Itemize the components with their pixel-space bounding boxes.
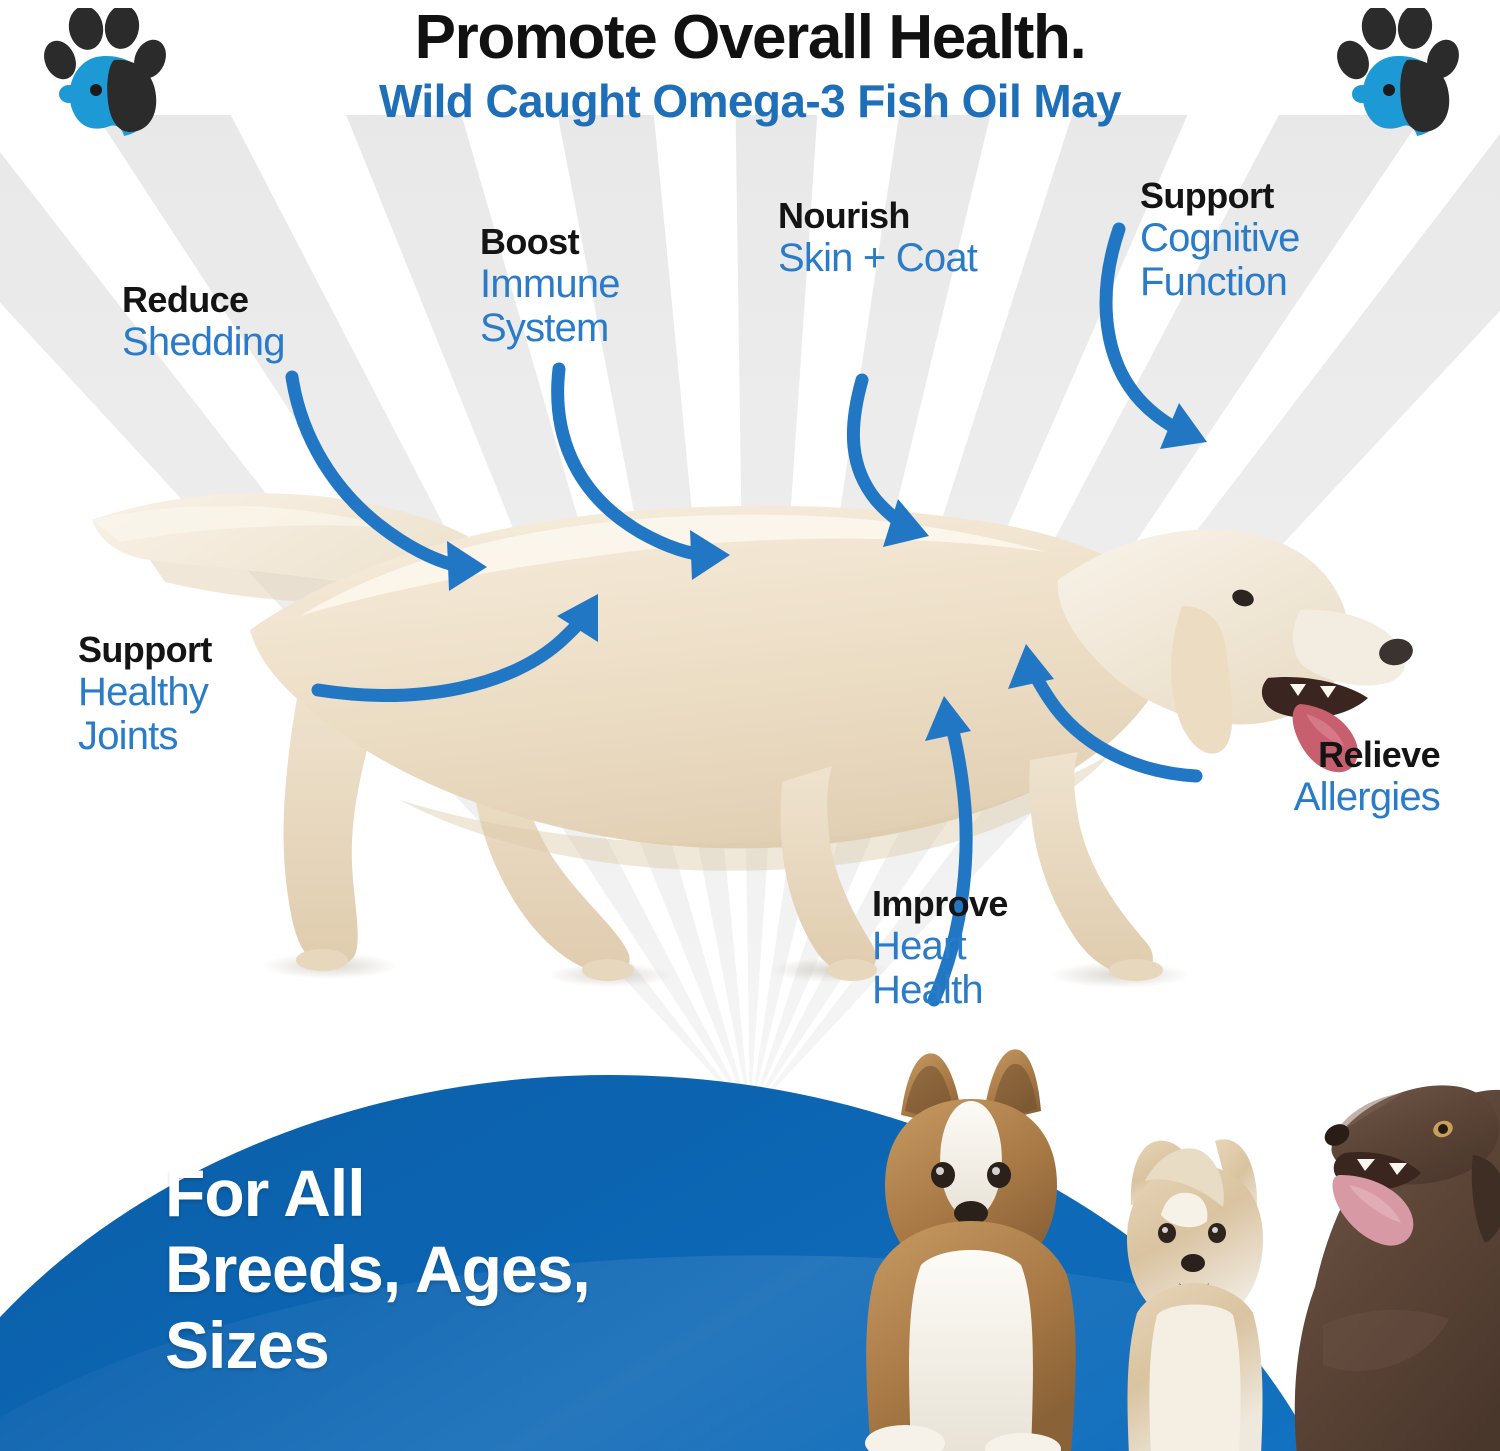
infographic-canvas: .ar { fill:none; stroke:#2277c4; stroke-… [0, 0, 1500, 1451]
callout-body-line1: Heart [872, 924, 1008, 968]
banner-line-2: Breeds, Ages, [165, 1231, 590, 1307]
callout-title: Improve [872, 884, 1008, 924]
callout-body-line2: Health [872, 968, 1008, 1012]
header-title-block: Promote Overall Health. Wild Caught Omeg… [185, 4, 1315, 128]
callout-body-line2: Joints [78, 714, 212, 758]
callout-body-line1: Shedding [122, 320, 285, 364]
callout-support-joints: Support Healthy Joints [78, 630, 212, 758]
callout-body-line2: Function [1140, 260, 1300, 304]
callout-body-line1: Skin + Coat [778, 236, 977, 280]
callout-body-line1: Allergies [1000, 775, 1440, 819]
main-dog-photo [0, 330, 1440, 1050]
trio-dogs-photo [845, 1025, 1500, 1451]
page-subtitle: Wild Caught Omega-3 Fish Oil May [185, 74, 1315, 128]
callout-body-line1: Cognitive [1140, 216, 1300, 260]
dog-small-terrier [1127, 1139, 1263, 1451]
callout-body-line1: Healthy [78, 670, 212, 714]
callout-improve-heart: Improve Heart Health [872, 884, 1008, 1012]
callout-nourish-skin-coat: Nourish Skin + Coat [778, 196, 977, 280]
callout-reduce-shedding: Reduce Shedding [122, 280, 285, 364]
page-title: Promote Overall Health. [185, 4, 1315, 72]
dog-chocolate-pointer [1295, 1085, 1500, 1451]
dog-shetland-sheepdog [865, 1049, 1076, 1451]
callout-title: Nourish [778, 196, 977, 236]
callout-body-line2: System [480, 306, 620, 350]
callout-relieve-allergies: Relieve Allergies [1000, 735, 1440, 819]
banner-line-3: Sizes [165, 1307, 590, 1383]
banner-line-1: For All [165, 1155, 590, 1231]
callout-boost-immune: Boost Immune System [480, 222, 620, 350]
callout-title: Support [1140, 176, 1300, 216]
callout-title: Support [78, 630, 212, 670]
paw-dog-logo-right [1337, 8, 1465, 140]
callout-title: Relieve [1000, 735, 1440, 775]
paw-dog-logo-left [44, 8, 172, 140]
callout-body-line1: Immune [480, 262, 620, 306]
banner-headline: For All Breeds, Ages, Sizes [165, 1155, 590, 1383]
header-bar: Promote Overall Health. Wild Caught Omeg… [0, 0, 1500, 140]
callout-support-cognitive: Support Cognitive Function [1140, 176, 1300, 304]
callout-title: Reduce [122, 280, 285, 320]
callout-title: Boost [480, 222, 620, 262]
